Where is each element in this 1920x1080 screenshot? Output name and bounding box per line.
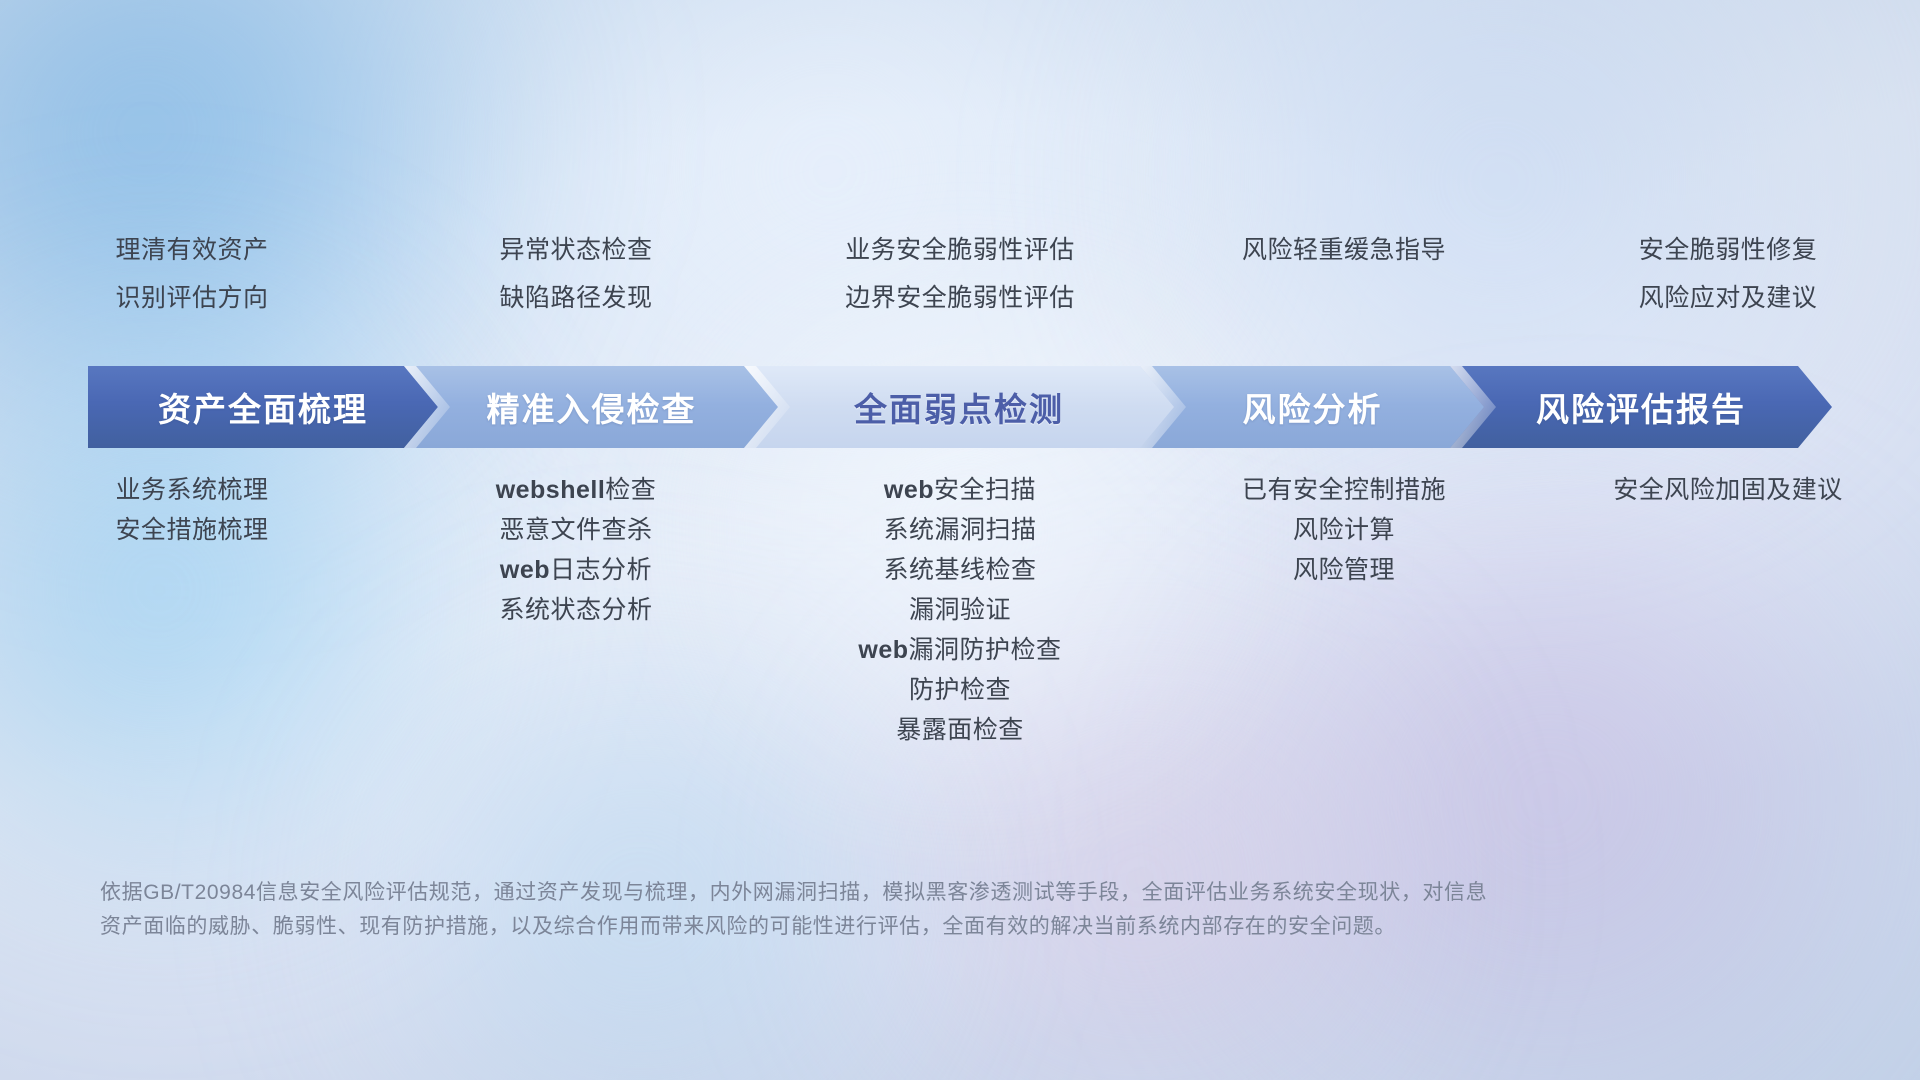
activity-item: 系统漏洞扫描 [883,510,1036,550]
bottom-activities-risk-analysis: 已有安全控制措施风险计算风险管理 [1152,470,1536,590]
bottom-activities-weakness-detection: web安全扫描系统漏洞扫描系统基线检查漏洞验证web漏洞防护检查防护检查暴露面检… [768,470,1152,750]
activity-item: 风险管理 [1293,550,1395,590]
top-outcome-item: 风险应对及建议 [1639,276,1818,320]
stage-label: 风险评估报告 [1536,383,1746,431]
activity-item: 业务系统梳理 [115,470,268,510]
stage-label: 风险分析 [1243,383,1383,431]
top-outcome-item: 理清有效资产 [115,228,268,272]
stage-label: 精准入侵检查 [487,383,697,431]
stage-chevron-weakness-detection[interactable]: 全面弱点检测 [744,366,1174,448]
top-outcome-item: 异常状态检查 [499,228,652,272]
activity-item: 系统状态分析 [499,590,652,630]
top-outcome-item: 边界安全脆弱性评估 [845,276,1075,320]
activity-item-prefix: web [884,476,934,504]
activity-item: 漏洞验证 [909,590,1011,630]
bottom-activities-row: 业务系统梳理安全措施梳理 webshell检查恶意文件查杀web日志分析系统状态… [0,470,1920,750]
activity-item: 风险计算 [1293,510,1395,550]
activity-item: 安全措施梳理 [115,510,268,550]
activity-item-prefix: web [500,556,550,584]
activity-item: 恶意文件查杀 [499,510,652,550]
top-outcome-item: 业务安全脆弱性评估 [845,228,1075,272]
activity-item-prefix: web [858,636,908,664]
top-outcomes-weakness-detection: 业务安全脆弱性评估 边界安全脆弱性评估 [768,228,1152,320]
top-outcomes-risk-report: 安全脆弱性修复 风险应对及建议 [1536,228,1920,320]
top-outcomes-row: 理清有效资产 识别评估方向 异常状态检查 缺陷路径发现 业务安全脆弱性评估 边界… [0,228,1920,320]
top-outcome-item: 安全脆弱性修复 [1639,228,1818,272]
activity-item: 防护检查 [909,670,1011,710]
top-outcomes-risk-analysis: 风险轻重缓急指导 [1152,228,1536,320]
bottom-activities-risk-report: 安全风险加固及建议 [1536,470,1920,510]
activity-item: 系统基线检查 [883,550,1036,590]
footer-line: 资产面临的威胁、脆弱性、现有防护措施，以及综合作用而带来风险的可能性进行评估，全… [100,910,1760,944]
bottom-activities-intrusion-check: webshell检查恶意文件查杀web日志分析系统状态分析 [384,470,768,630]
activity-item: 安全风险加固及建议 [1613,470,1843,510]
activity-item: web日志分析 [500,550,652,590]
activity-item: 已有安全控制措施 [1242,470,1446,510]
stage-chevron-risk-report[interactable]: 风险评估报告 [1450,366,1832,448]
top-outcomes-intrusion-check: 异常状态检查 缺陷路径发现 [384,228,768,320]
top-outcomes-asset-inventory: 理清有效资产 识别评估方向 [0,228,384,320]
stage-label: 全面弱点检测 [854,383,1064,431]
activity-item: web安全扫描 [884,470,1036,510]
footer-line: 依据GB/T20984信息安全风险评估规范，通过资产发现与梳理，内外网漏洞扫描，… [100,876,1760,910]
activity-item-prefix: webshell [496,476,606,504]
stage-chevron-risk-analysis[interactable]: 风险分析 [1140,366,1485,448]
footer-description: 依据GB/T20984信息安全风险评估规范，通过资产发现与梳理，内外网漏洞扫描，… [100,876,1760,944]
activity-item: webshell检查 [496,470,657,510]
stage-label: 资产全面梳理 [158,383,368,431]
top-outcome-item: 缺陷路径发现 [499,276,652,320]
activity-item: 暴露面检查 [896,710,1024,750]
stage-chevron-intrusion-check[interactable]: 精准入侵检查 [404,366,779,448]
top-outcome-item: 识别评估方向 [115,276,268,320]
activity-item: web漏洞防护检查 [858,630,1061,670]
top-outcome-item: 风险轻重缓急指导 [1242,228,1446,272]
bottom-activities-asset-inventory: 业务系统梳理安全措施梳理 [0,470,384,550]
stage-chevron-asset-inventory[interactable]: 资产全面梳理 [88,366,438,448]
process-chevron-band: 资产全面梳理 精准入侵检查 全面弱点检测 风险分析 风险评估报告 [0,366,1920,448]
